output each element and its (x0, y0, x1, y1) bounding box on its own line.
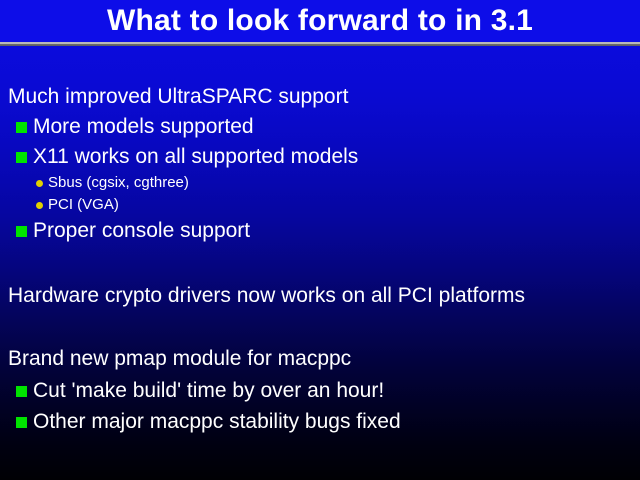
presentation-slide: What to look forward to in 3.1 Much impr… (0, 0, 640, 480)
block-heading: Brand new pmap module for macppc (0, 346, 640, 372)
content-block-1: Much improved UltraSPARC support More mo… (0, 84, 640, 244)
content-block-3: Brand new pmap module for macppc Cut 'ma… (0, 346, 640, 435)
square-bullet-icon (16, 417, 27, 428)
bullet-label: Other major macppc stability bugs fixed (33, 410, 401, 433)
sub-bullet-item: PCI (VGA) (0, 195, 640, 215)
bullet-item: More models supported (0, 114, 640, 140)
sub-bullet-item: Sbus (cgsix, cgthree) (0, 173, 640, 193)
square-bullet-icon (16, 386, 27, 397)
sub-bullet-label: Sbus (cgsix, cgthree) (48, 174, 189, 191)
round-bullet-icon (36, 180, 43, 187)
slide-body: Much improved UltraSPARC support More mo… (0, 46, 640, 480)
bullet-label: Proper console support (33, 219, 250, 242)
bullet-item: X11 works on all supported models (0, 144, 640, 170)
bullet-item: Cut 'make build' time by over an hour! (0, 378, 640, 404)
square-bullet-icon (16, 226, 27, 237)
sub-bullet-label: PCI (VGA) (48, 196, 119, 213)
block-heading: Hardware crypto drivers now works on all… (0, 283, 640, 309)
round-bullet-icon (36, 202, 43, 209)
bullet-label: Cut 'make build' time by over an hour! (33, 379, 384, 402)
block-heading: Much improved UltraSPARC support (0, 84, 640, 110)
page-title: What to look forward to in 3.1 (0, 4, 640, 38)
content-block-2: Hardware crypto drivers now works on all… (0, 283, 640, 309)
bullet-item: Other major macppc stability bugs fixed (0, 409, 640, 435)
bullet-label: More models supported (33, 115, 254, 138)
square-bullet-icon (16, 152, 27, 163)
bullet-item: Proper console support (0, 218, 640, 244)
square-bullet-icon (16, 122, 27, 133)
bullet-label: X11 works on all supported models (33, 145, 358, 168)
